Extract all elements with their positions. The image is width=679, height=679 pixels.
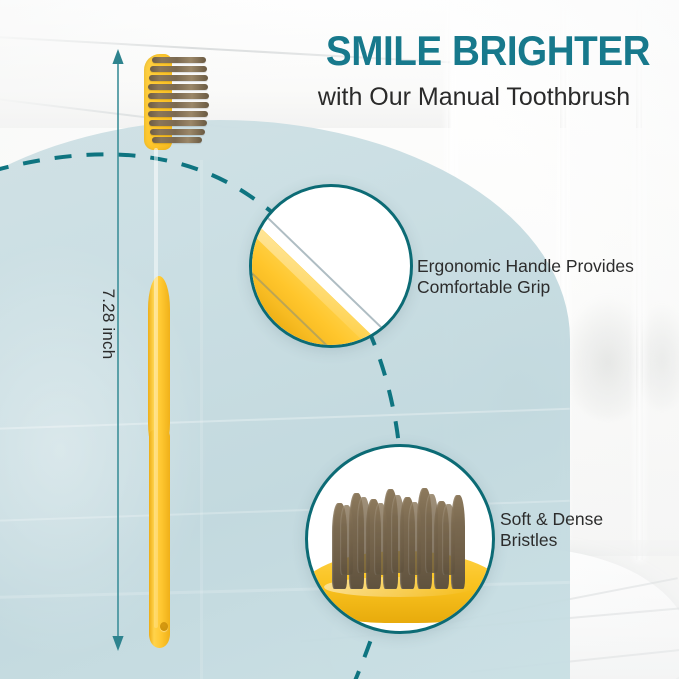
product-infographic: 7.28 inch	[0, 0, 679, 679]
handle-highlight	[154, 148, 158, 628]
bristle-tuft-back	[425, 494, 438, 573]
bristle-row	[148, 93, 209, 99]
callout-soft-dense-bristles-line2: Bristles	[500, 530, 670, 551]
callout-ergonomic-handle: Ergonomic Handle Provides Comfortable Gr…	[417, 256, 667, 298]
bristle-tuft-back	[408, 502, 421, 575]
headline-subtitle: with Our Manual Toothbrush	[278, 82, 670, 112]
bristle-row	[149, 120, 207, 126]
bristle-tuft-back	[442, 504, 455, 575]
headline-title: SMILE BRIGHTER	[322, 29, 653, 73]
toothbrush-product-image	[132, 50, 212, 652]
bristle-tuft-back	[340, 505, 353, 575]
callout-soft-dense-bristles: Soft & Dense Bristles	[500, 509, 670, 551]
brush-handle-shaft	[149, 430, 170, 648]
bristle-row	[150, 129, 205, 135]
bristle-tuft-back	[391, 495, 404, 573]
callout-ergonomic-handle-line1: Ergonomic Handle Provides	[417, 256, 667, 277]
zoom-circle-handle	[249, 184, 413, 348]
bristle-row	[149, 75, 208, 81]
bristle-row	[150, 66, 207, 72]
length-measurement: 7.28 inch	[104, 48, 132, 652]
brush-grip	[148, 276, 170, 456]
handle-hanging-hole	[160, 622, 168, 631]
bristle-row	[152, 57, 206, 63]
callout-soft-dense-bristles-line1: Soft & Dense	[500, 509, 670, 530]
measurement-label: 7.28 inch	[98, 264, 118, 384]
bristle-row	[148, 102, 209, 108]
bristle-row	[148, 84, 208, 90]
zoom-circle-bristles	[305, 444, 495, 634]
callout-ergonomic-handle-line2: Comfortable Grip	[417, 277, 667, 298]
brush-bristles	[148, 57, 210, 143]
bristle-tuft-back	[374, 503, 387, 575]
bristle-tuft-back	[357, 497, 370, 573]
zoomed-handle-body	[249, 184, 413, 348]
bristle-row	[148, 111, 208, 117]
